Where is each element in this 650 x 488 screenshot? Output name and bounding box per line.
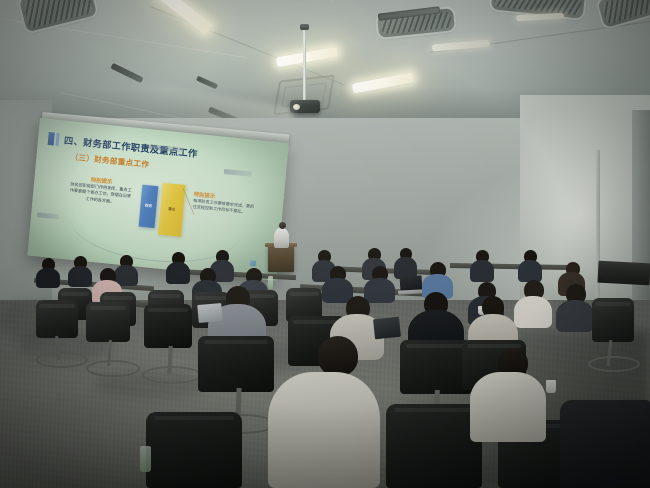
presenter-head — [279, 222, 286, 229]
attendee — [556, 300, 594, 332]
podium — [268, 246, 294, 272]
laptop — [197, 303, 222, 323]
slide-right-text-block: 特别提示 每项职责工作要按要求完成，要抓住流程控制工作目标不要乱。 — [192, 190, 256, 217]
office-chair — [86, 302, 130, 342]
attendee — [514, 296, 552, 328]
attendee — [268, 372, 380, 488]
attendee — [36, 268, 60, 288]
attendee — [518, 260, 542, 282]
presenter — [274, 228, 289, 248]
office-chair — [198, 336, 274, 392]
slide-accent-bar-2 — [56, 133, 60, 146]
projector-mount-pole — [303, 28, 306, 102]
cup — [546, 380, 556, 393]
slide-left-text-block: 特别提示 财务部职能部门作用发挥，重点工作要掌握个督办工作，穿插在日常工作的各方… — [69, 173, 133, 206]
chair-base — [588, 356, 640, 372]
projector-ceiling-mount — [300, 24, 309, 30]
attendee — [470, 372, 546, 442]
slide-blue-panel: 财务 — [139, 185, 159, 228]
slide-tag — [224, 169, 252, 177]
office-chair — [386, 404, 482, 488]
projected-slide: 四、财务部工作职责及重点工作 （三）财务部重点工作 特别提示 财务部职能部门作用… — [27, 118, 288, 281]
slide-blue-panel-label: 财务 — [140, 203, 156, 210]
attendee-head — [318, 336, 358, 376]
slide-footer-mark — [249, 260, 256, 267]
attendee — [166, 262, 190, 284]
office-chair — [36, 300, 78, 338]
office-chair — [592, 298, 634, 342]
chair-base — [86, 360, 140, 377]
office-chair — [146, 412, 242, 488]
water-bottle — [268, 276, 273, 289]
conference-room-photo: 四、财务部工作职责及重点工作 （三）财务部重点工作 特别提示 财务部职能部门作用… — [0, 0, 650, 488]
slide-tag — [37, 212, 59, 219]
laptop — [373, 317, 401, 340]
projection-screen: 四、财务部工作职责及重点工作 （三）财务部重点工作 特别提示 财务部职能部门作用… — [27, 118, 288, 281]
attendee — [68, 266, 92, 287]
office-chair — [144, 304, 192, 348]
attendee — [364, 278, 395, 303]
slide-yellow-panel-label: 重点 — [160, 206, 183, 213]
attendee — [470, 260, 494, 282]
chair-base — [142, 366, 202, 384]
water-bottle — [140, 446, 151, 472]
side-table — [597, 261, 650, 286]
slide-accent-bar — [48, 132, 55, 146]
attendee — [560, 400, 650, 488]
chair-base — [36, 352, 88, 368]
